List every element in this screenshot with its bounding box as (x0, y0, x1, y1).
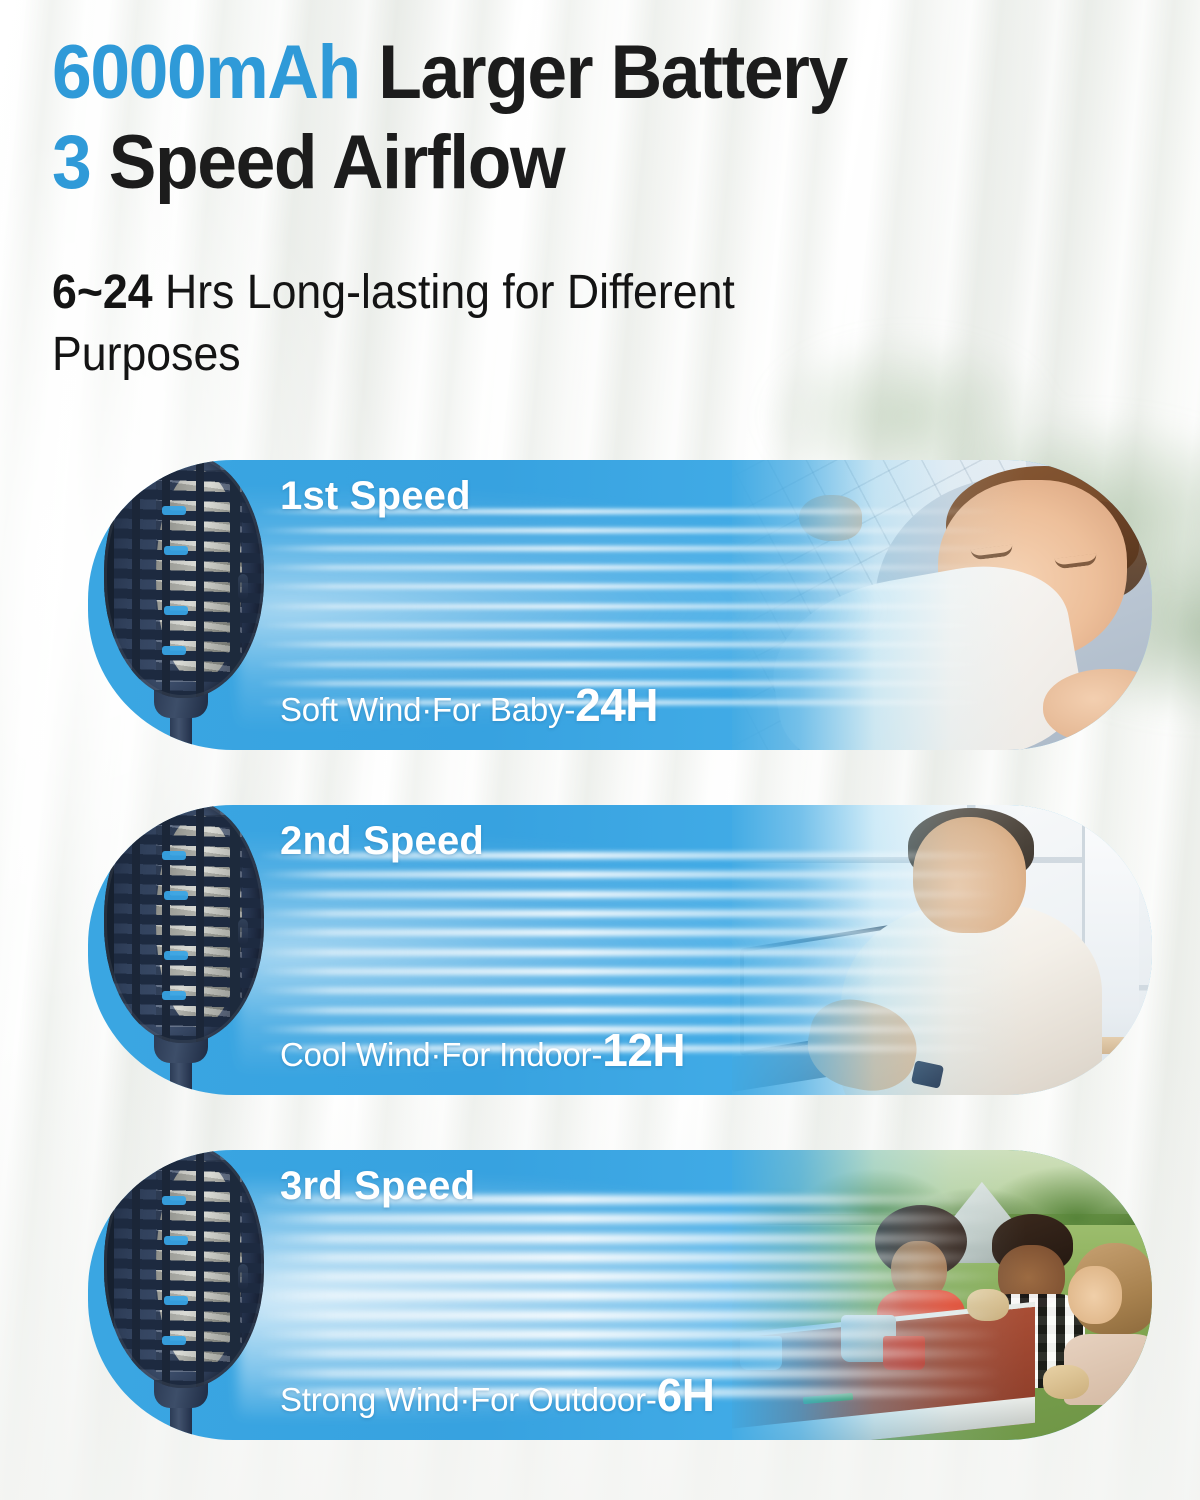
headline-line-1-rest: Larger Battery (360, 30, 847, 115)
speed-title-2: 2nd Speed (280, 819, 484, 864)
camp-green-knife (803, 1393, 854, 1404)
product-infographic: 6000mAh Larger Battery 3 Speed Airflow 6… (0, 0, 1200, 1500)
subheadline-rest: Hrs Long-lasting for Different Purposes (52, 266, 735, 381)
man-watch (911, 1060, 945, 1089)
man-head (913, 817, 1026, 933)
speed-caption-hours-2: 12H (602, 1024, 685, 1076)
speed-card-1st: 1st Speed Soft Wind·For Baby-24H (88, 460, 1152, 750)
speed-caption-2: Cool Wind·For Indoor-12H (280, 1023, 685, 1077)
desk-window (732, 805, 1152, 1095)
camp-red-mug (883, 1336, 925, 1371)
man-at-laptop-photo (732, 805, 1152, 1095)
camp-white-mug (740, 1336, 782, 1371)
camp-p2-face (998, 1245, 1065, 1308)
fan-ring-edge (104, 805, 264, 1043)
camp-trees (732, 1156, 1152, 1260)
camp-meadow (732, 1225, 1152, 1364)
baby-bedsheet (732, 460, 1026, 750)
sleeping-baby-photo (732, 460, 1152, 750)
fan-illustration-1 (96, 460, 276, 750)
man-arm (800, 992, 925, 1095)
fan-illustration-3 (96, 1150, 276, 1440)
speed-caption-hours-1: 24H (575, 679, 658, 731)
camp-bread-1 (967, 1289, 1009, 1321)
camp-kettle (841, 1315, 896, 1361)
headline-line-2: 3 Speed Airflow (52, 126, 1105, 200)
camp-p2-hair (992, 1214, 1073, 1273)
headline-line-1: 6000mAh Larger Battery (52, 36, 1105, 110)
baby-mouth (975, 587, 1023, 609)
speed-title-1: 1st Speed (280, 474, 471, 519)
desk-window-frame (1082, 811, 1140, 1089)
subheadline: 6~24 Hrs Long-lasting for Different Purp… (52, 262, 815, 386)
baby-eye-right (1055, 553, 1098, 569)
speed-caption-1: Soft Wind·For Baby-24H (280, 678, 658, 732)
baby-head (938, 480, 1127, 660)
baby-foot (799, 495, 862, 541)
man-torso (841, 904, 1101, 1095)
speed-caption-text-2: Cool Wind·For Indoor- (280, 1036, 602, 1073)
camp-sky (732, 1150, 1152, 1214)
camp-tent (917, 1182, 1047, 1263)
camp-person-woman-blonde (1064, 1243, 1152, 1405)
baby-hair (946, 466, 1139, 582)
headline-line-2-rest: Speed Airflow (90, 120, 564, 205)
headline-capacity-accent: 6000mAh (52, 30, 360, 115)
speed-card-list: 1st Speed Soft Wind·For Baby-24H (88, 460, 1152, 1440)
headline-block: 6000mAh Larger Battery 3 Speed Airflow (52, 36, 1172, 200)
camp-table (732, 1302, 1034, 1440)
camp-p1-face (891, 1241, 946, 1303)
camp-p3-hair (1073, 1243, 1152, 1334)
camp-table-edge (732, 1397, 1034, 1440)
laptop-base (732, 1029, 908, 1092)
camp-p3-face (1068, 1266, 1122, 1324)
camp-p2-shirt (984, 1294, 1085, 1388)
subheadline-hours-range: 6~24 (52, 266, 153, 319)
baby-hair-back (1055, 501, 1147, 600)
fan-illustration-2 (96, 805, 276, 1095)
baby-body (760, 551, 1091, 750)
speed-caption-3: Strong Wind·For Outdoor-6H (280, 1368, 714, 1422)
camp-p1-hair (875, 1205, 967, 1278)
camp-p3-shirt (1064, 1334, 1152, 1405)
baby-eye-left (971, 544, 1014, 560)
headline-speed-accent: 3 (52, 120, 90, 205)
camp-p1-shirt (877, 1290, 966, 1368)
desk-window-sill (1076, 1037, 1143, 1054)
speed-card-2nd: 2nd Speed Cool Wind·For Indoor-12H (88, 805, 1152, 1095)
baby-arm (1043, 669, 1152, 744)
camp-person-woman-red (875, 1205, 967, 1367)
speed-caption-hours-3: 6H (657, 1369, 715, 1421)
baby-pillow (875, 477, 1152, 750)
man-hair (908, 808, 1034, 883)
speed-title-3: 3rd Speed (280, 1164, 475, 1209)
camp-bread-2 (1043, 1365, 1089, 1400)
fan-ring-edge (104, 1150, 264, 1388)
speed-caption-text-1: Soft Wind·For Baby- (280, 691, 575, 728)
friends-camping-photo (732, 1150, 1152, 1440)
laptop-screen (740, 924, 899, 1056)
fan-ring-edge (104, 460, 264, 698)
speed-card-3rd: 3rd Speed Strong Wind·For Outdoor-6H (88, 1150, 1152, 1440)
speed-caption-text-3: Strong Wind·For Outdoor- (280, 1381, 657, 1418)
camp-person-man-plaid (984, 1214, 1085, 1388)
